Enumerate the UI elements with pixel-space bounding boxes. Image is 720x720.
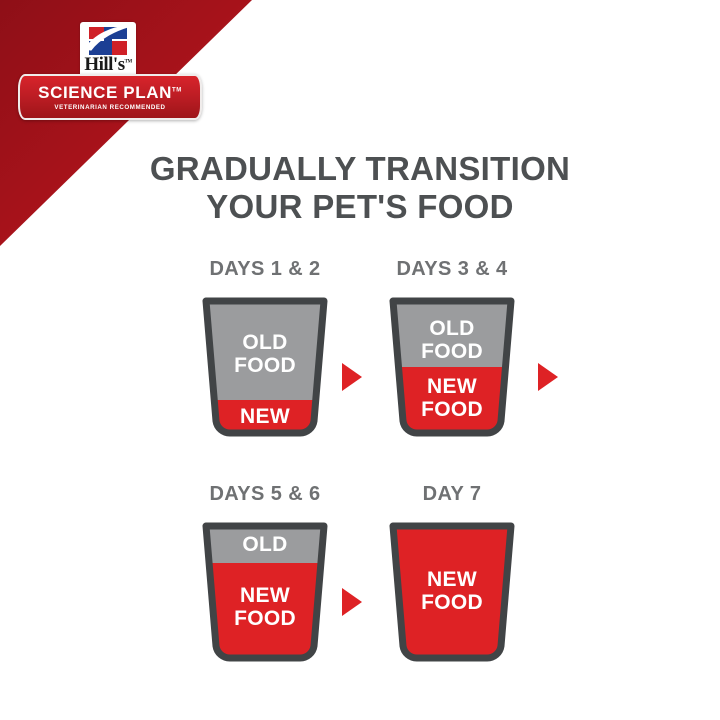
page-title-line-2: YOUR PET'S FOOD <box>0 188 720 226</box>
science-plan-title: SCIENCE PLANTM <box>38 84 182 101</box>
step-3-label: DAYS 5 & 6 <box>175 483 355 506</box>
veterinarian-recommended-text: VETERINARIAN RECOMMENDED <box>54 104 165 111</box>
step-card-3: DAYS 5 & 6 OLD NEWFOOD <box>175 483 355 666</box>
arrow-step-3-to-4-icon <box>342 588 362 616</box>
bowl-4: NEWFOOD <box>385 518 519 666</box>
step-card-4: DAY 7 NEWFOOD <box>362 483 542 666</box>
bowl-1-graphic <box>198 293 332 441</box>
science-plan-banner: SCIENCE PLANTM VETERINARIAN RECOMMENDED <box>18 74 202 120</box>
hills-logo-tile: Hill'sTM <box>80 22 136 80</box>
bowl-2: OLDFOOD NEWFOOD <box>385 293 519 441</box>
page-title-line-1: GRADUALLY TRANSITION <box>150 150 570 187</box>
hills-science-plan-logo: Hill'sTM SCIENCE PLANTM VETERINARIAN REC… <box>18 22 198 132</box>
page-title: GRADUALLY TRANSITION YOUR PET'S FOOD <box>0 150 720 227</box>
step-card-2: DAYS 3 & 4 OLDFOOD NEWFOOD <box>362 258 542 441</box>
bowl-2-graphic <box>385 293 519 441</box>
step-2-label: DAYS 3 & 4 <box>362 258 542 281</box>
arrow-step-2-to-3-icon <box>538 363 558 391</box>
step-4-label: DAY 7 <box>362 483 542 506</box>
bowl-3-graphic <box>198 518 332 666</box>
infographic-page: Hill'sTM SCIENCE PLANTM VETERINARIAN REC… <box>0 0 720 720</box>
hills-wordmark: Hill'sTM <box>80 55 136 74</box>
step-1-label: DAYS 1 & 2 <box>175 258 355 281</box>
arrow-step-1-to-2-icon <box>342 363 362 391</box>
hills-swoosh-icon <box>84 25 132 51</box>
bowl-1: OLDFOOD NEW <box>198 293 332 441</box>
step-card-1: DAYS 1 & 2 OLDFOOD NEW <box>175 258 355 441</box>
bowl-4-graphic <box>385 518 519 666</box>
bowl-3: OLD NEWFOOD <box>198 518 332 666</box>
